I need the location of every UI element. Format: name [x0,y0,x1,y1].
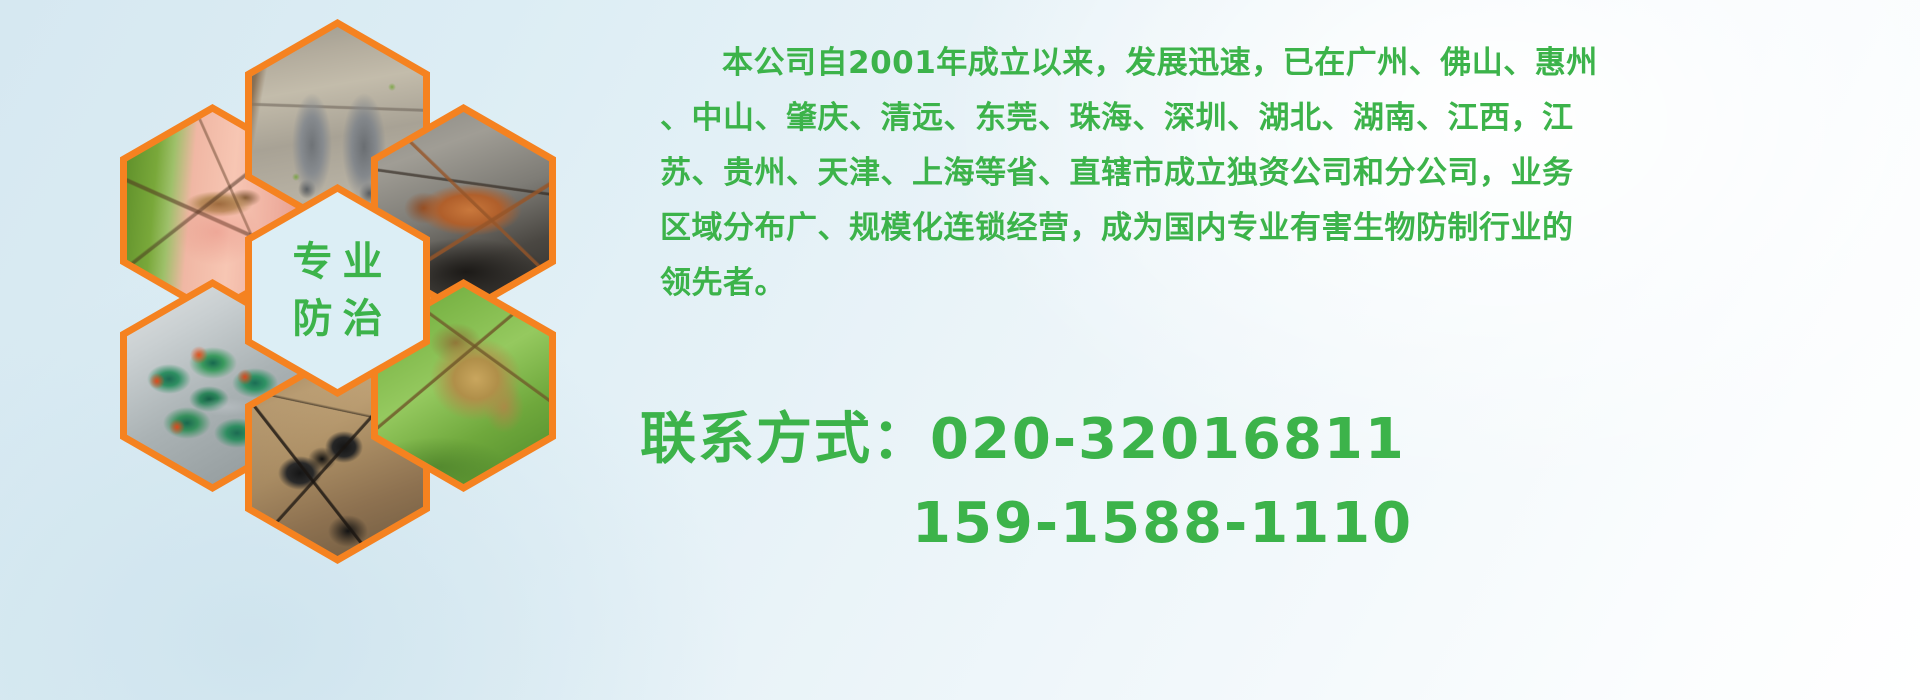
banner-root: 专业 防治 本公司自2001年成立以来，发展迅速，已在广州、佛山、惠州 、中山、… [0,0,1920,700]
intro-line-4: 区域分布广、规模化连锁经营，成为国内专业有害生物防制行业的 [660,201,1900,256]
intro-line-5: 领先者。 [660,256,1900,311]
hex-cell-slogan-inner: 专业 防治 [252,192,423,389]
contact-block: 联系方式：020-32016811 159-1588-1110 [640,398,1900,566]
intro-line-1: 本公司自2001年成立以来，发展迅速，已在广州、佛山、惠州 [660,36,1900,91]
contact-phone-mobile[interactable]: 159-1588-1110 [640,482,1900,566]
company-intro-paragraph: 本公司自2001年成立以来，发展迅速，已在广州、佛山、惠州 、中山、肇庆、清远、… [660,36,1900,311]
intro-line-2: 、中山、肇庆、清远、东莞、珠海、深圳、湖北、湖南、江西，江 [660,91,1900,146]
intro-line-3: 苏、贵州、天津、上海等省、直辖市成立独资公司和分公司，业务 [660,146,1900,201]
slogan-line-1: 专业 [283,234,393,291]
contact-phone-landline[interactable]: 联系方式：020-32016811 [640,398,1900,482]
slogan-line-2: 防治 [283,291,393,348]
hexagon-collage: 专业 防治 [90,0,590,564]
